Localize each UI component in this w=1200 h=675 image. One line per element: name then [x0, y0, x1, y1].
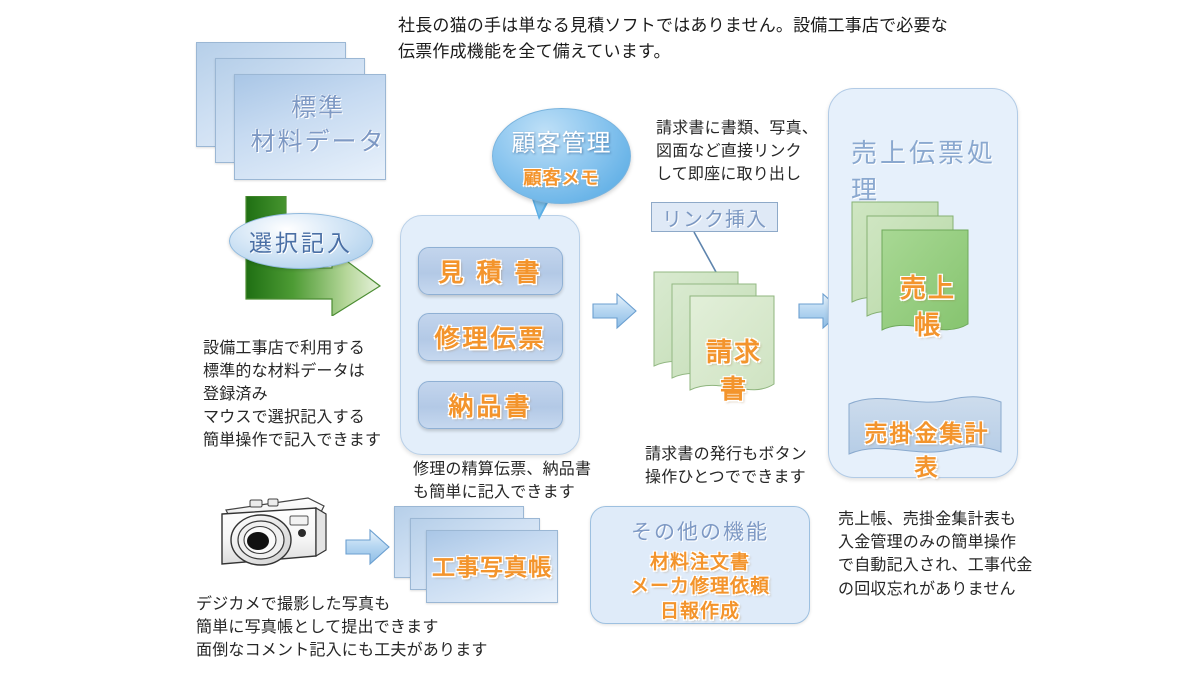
other-feature-item-1: メーカ修理依頼 [591, 575, 809, 599]
quote-document-label: 見 積 書 [439, 253, 543, 289]
invoice-caption: 請求書の発行もボタン 操作ひとつでできます [645, 443, 845, 489]
repair-slip-label: 修理伝票 [434, 319, 546, 355]
link-note-text: 請求書に書類、写真、 図面など直接リンク して即座に取り出し [656, 117, 856, 187]
material-caption-2: マウスで選択記入する 簡単操作で記入できます [203, 406, 428, 452]
arrow-panel-to-invoice [592, 292, 638, 330]
header-description: 社長の猫の手は単なる見積ソフトではありません。設備工事店で必要な 伝票作成機能を… [398, 13, 998, 64]
select-fill-ellipse[interactable]: 選択記入 [229, 213, 373, 269]
photo-album-label: 工事写真帳 [428, 552, 556, 583]
quote-document-button[interactable]: 見 積 書 [418, 247, 563, 295]
material-data-label: 標準 材料データ [248, 92, 388, 160]
photo-album-stack[interactable]: 工事写真帳 [394, 506, 579, 606]
central-panel-caption: 修理の精算伝票、納品書 も簡単に記入できます [413, 458, 623, 504]
delivery-note-button[interactable]: 納品書 [418, 381, 563, 429]
material-data-stack: 標準 材料データ [196, 42, 396, 182]
digital-camera-icon [212, 488, 332, 579]
repair-slip-button[interactable]: 修理伝票 [418, 313, 563, 361]
sales-panel-caption: 売上帳、売掛金集計表も 入金管理のみの簡単操作 で自動記入され、工事代金 の回収… [838, 508, 1038, 601]
diagram-canvas: 社長の猫の手は単なる見積ソフトではありません。設備工事店で必要な 伝票作成機能を… [0, 0, 1200, 675]
receivable-banner[interactable]: 売掛金集計表 [845, 392, 1005, 473]
sales-panel-title: 売上伝票処理 [851, 133, 1017, 207]
arrow-camera-to-album [345, 528, 391, 566]
invoice-label: 請求書 [694, 332, 774, 406]
material-caption-1: 設備工事店で利用する 標準的な材料データは 登録済み [203, 337, 418, 407]
customer-management-bubble[interactable]: 顧客管理 顧客メモ [492, 108, 631, 204]
other-feature-item-0: 材料注文書 [591, 551, 809, 575]
invoice-document-stack[interactable]: 請求書 [652, 264, 802, 394]
customer-management-title: 顧客管理 [512, 123, 612, 158]
receivable-label: 売掛金集計表 [857, 414, 997, 482]
link-insert-label: リンク挿入 [662, 203, 767, 232]
delivery-note-label: 納品書 [448, 387, 532, 423]
customer-memo-label: 顧客メモ [524, 164, 600, 190]
select-fill-label: 選択記入 [249, 224, 353, 258]
other-features-box[interactable]: その他の機能 材料注文書 メーカ修理依頼 日報作成 [590, 506, 810, 624]
other-feature-item-2: 日報作成 [591, 600, 809, 624]
sales-ledger-label: 売上帳 [888, 268, 968, 342]
link-insert-button[interactable]: リンク挿入 [651, 202, 778, 232]
photo-caption: デジカメで撮影した写真も 簡単に写真帳として提出できます 面倒なコメント記入にも… [196, 593, 526, 663]
other-features-title: その他の機能 [591, 516, 809, 546]
sales-ledger-stack[interactable]: 売上帳 [850, 198, 1010, 348]
